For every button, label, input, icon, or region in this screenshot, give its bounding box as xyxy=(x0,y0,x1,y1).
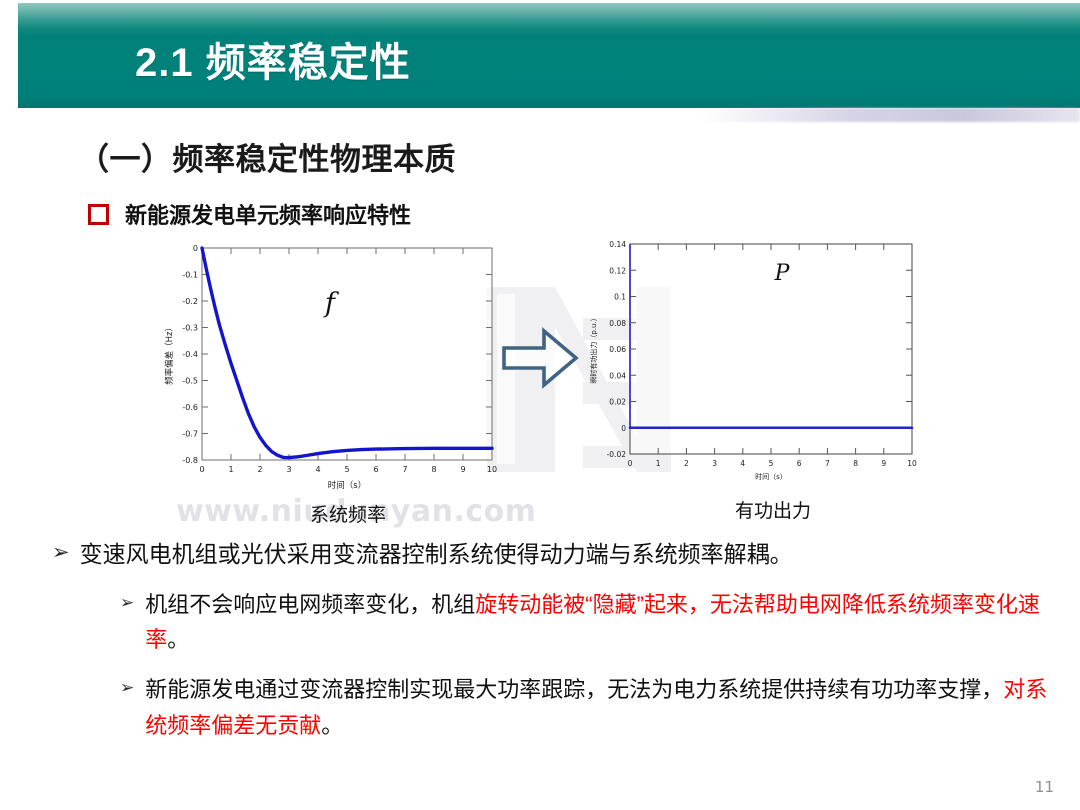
slide: www.niudunyan.com 2.1 频率稳定性 （一）频率稳定性物理本质… xyxy=(0,0,1080,810)
svg-text:6: 6 xyxy=(373,465,378,474)
left-chart-xlabel: 时间（s） xyxy=(328,480,366,491)
right-chart-ylabel: 瞬时有功出力（p.u.） xyxy=(589,314,598,383)
svg-text:5: 5 xyxy=(769,459,774,468)
bullet-level2-2-text: 新能源发电通过变流器控制实现最大功率跟踪，无法为电力系统提供持续有功功率支撑，对… xyxy=(145,672,1062,743)
svg-text:3: 3 xyxy=(712,459,717,468)
svg-text:4: 4 xyxy=(740,459,745,468)
svg-text:7: 7 xyxy=(402,465,407,474)
right-arrow-icon xyxy=(504,331,576,385)
page-number: 11 xyxy=(1035,778,1054,796)
header-left-margin xyxy=(0,0,18,108)
svg-text:-0.1: -0.1 xyxy=(182,271,198,280)
chart-active-power: 0.14 0.12 0.1 0.08 0.06 0.04 0.02 0 -0.0… xyxy=(582,232,942,482)
bullet-level2-1: ➢ 机组不会响应电网频率变化，机组旋转动能被“隐藏”起来，无法帮助电网降低系统频… xyxy=(120,587,1062,658)
svg-text:8: 8 xyxy=(431,465,436,474)
svg-text:0: 0 xyxy=(193,244,198,253)
svg-text:0.1: 0.1 xyxy=(614,293,626,302)
arrow-bullet-icon: ➢ xyxy=(52,538,70,568)
bullet-level2-2-period: 。 xyxy=(321,713,343,738)
svg-text:10: 10 xyxy=(487,465,497,474)
left-chart-ylabel: 频率偏差（Hz） xyxy=(164,323,175,385)
caption-left-chart: 系统频率 xyxy=(310,500,386,527)
subsection-heading-label: 新能源发电单元频率响应特性 xyxy=(125,198,411,230)
svg-text:0: 0 xyxy=(621,424,626,433)
subsection-heading: 新能源发电单元频率响应特性 xyxy=(88,198,411,230)
svg-text:8: 8 xyxy=(853,459,858,468)
svg-text:2: 2 xyxy=(257,465,262,474)
svg-text:0: 0 xyxy=(199,465,204,474)
svg-text:-0.8: -0.8 xyxy=(182,456,198,465)
bullet-level1-1-text: 变速风电机组或光伏采用变流器控制系统使得动力端与系统频率解耦。 xyxy=(80,538,1062,571)
svg-text:9: 9 xyxy=(460,465,465,474)
bullet-level2-2: ➢ 新能源发电通过变流器控制实现最大功率跟踪，无法为电力系统提供持续有功功率支撑… xyxy=(120,672,1062,743)
svg-text:2: 2 xyxy=(684,459,689,468)
section-heading: （一）频率稳定性物理本质 xyxy=(78,134,456,179)
svg-text:4: 4 xyxy=(315,465,320,474)
bullet-level2-1-period: 。 xyxy=(167,627,189,652)
svg-text:-0.4: -0.4 xyxy=(182,350,198,359)
svg-text:0.04: 0.04 xyxy=(609,371,626,380)
caption-right-chart: 有功出力 xyxy=(735,496,811,523)
arrow-bullet-icon: ➢ xyxy=(120,672,134,700)
svg-text:-0.02: -0.02 xyxy=(607,450,627,459)
bullet-level2-2-black: 新能源发电通过变流器控制实现最大功率跟踪，无法为电力系统提供持续有功功率支撑， xyxy=(145,677,1003,702)
page-title: 2.1 频率稳定性 xyxy=(135,30,411,88)
right-chart-xlabel: 时间（s） xyxy=(755,472,787,481)
arrow-bullet-icon: ➢ xyxy=(120,587,134,615)
svg-text:0.02: 0.02 xyxy=(609,398,626,407)
svg-text:0.08: 0.08 xyxy=(609,319,626,328)
svg-text:0: 0 xyxy=(628,459,633,468)
right-chart-symbol: P xyxy=(774,261,791,286)
svg-text:-0.7: -0.7 xyxy=(182,430,198,439)
chart-frequency-deviation: 0 -0.1 -0.2 -0.3 -0.4 -0.5 -0.6 -0.7 -0.… xyxy=(158,238,508,498)
bullet-level1-1: ➢ 变速风电机组或光伏采用变流器控制系统使得动力端与系统频率解耦。 xyxy=(52,538,1062,571)
svg-text:1: 1 xyxy=(656,459,661,468)
svg-text:-0.3: -0.3 xyxy=(182,324,198,333)
svg-text:0.14: 0.14 xyxy=(609,240,626,249)
transition-arrow xyxy=(500,322,580,394)
svg-text:1: 1 xyxy=(228,465,233,474)
svg-text:9: 9 xyxy=(881,459,886,468)
svg-text:7: 7 xyxy=(825,459,830,468)
svg-text:-0.6: -0.6 xyxy=(182,403,198,412)
bullet-level2-1-black: 机组不会响应电网频率变化，机组 xyxy=(145,592,475,617)
red-square-bullet-icon xyxy=(88,204,109,225)
header-underglow xyxy=(700,108,1080,122)
svg-text:6: 6 xyxy=(797,459,802,468)
svg-text:-0.5: -0.5 xyxy=(182,377,198,386)
body-content: ➢ 变速风电机组或光伏采用变流器控制系统使得动力端与系统频率解耦。 ➢ 机组不会… xyxy=(52,538,1062,743)
bullet-level2-1-text: 机组不会响应电网频率变化，机组旋转动能被“隐藏”起来，无法帮助电网降低系统频率变… xyxy=(145,587,1062,658)
svg-text:-0.2: -0.2 xyxy=(182,297,198,306)
svg-text:5: 5 xyxy=(344,465,349,474)
svg-text:0.06: 0.06 xyxy=(609,345,626,354)
svg-text:3: 3 xyxy=(286,465,291,474)
svg-text:10: 10 xyxy=(907,459,917,468)
svg-text:0.12: 0.12 xyxy=(609,266,626,275)
